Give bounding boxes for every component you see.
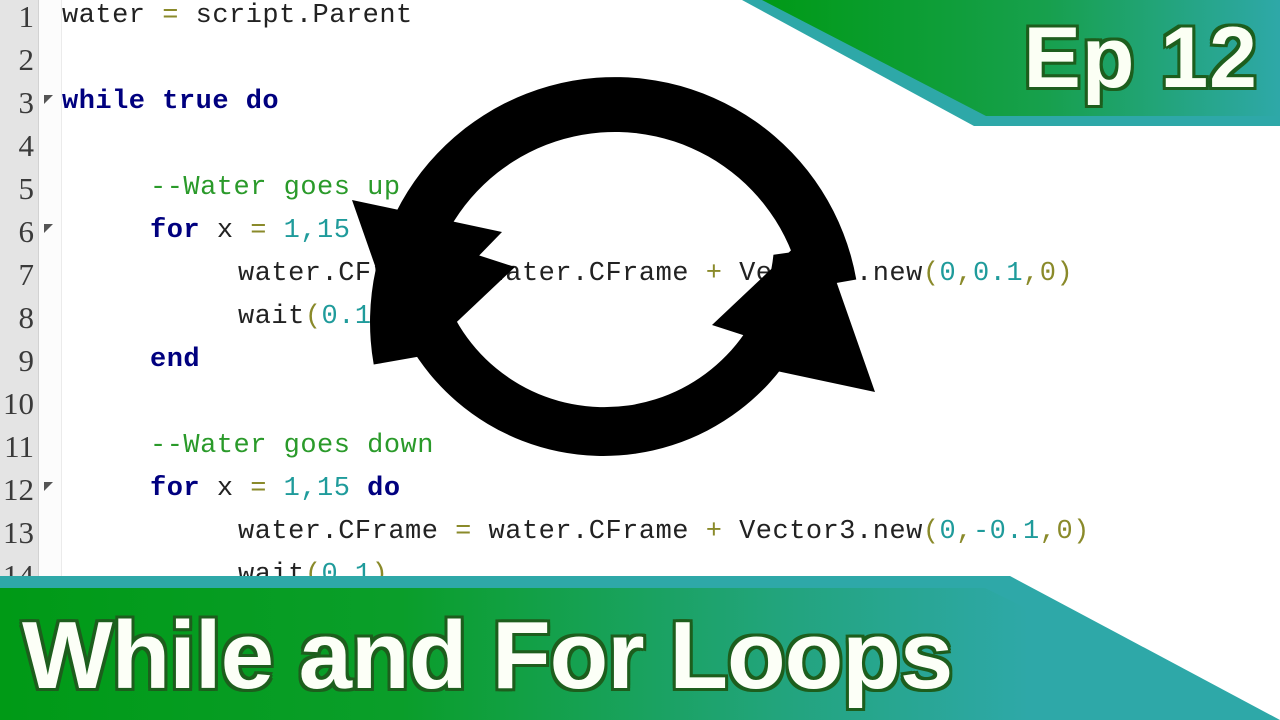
code-line[interactable]: 13water.CFrame = water.CFrame + Vector3.… [0, 511, 1280, 554]
code-line[interactable]: 6for x = 1,15 do [0, 210, 1280, 253]
line-number: 1 [0, 0, 34, 38]
code-fold-marker[interactable] [44, 224, 53, 233]
line-number: 11 [0, 425, 34, 468]
line-number: 6 [0, 210, 34, 253]
video-title: While and For Loops [22, 594, 952, 718]
code-text: water.CFrame = water.CFrame + Vector3.ne… [238, 511, 1090, 554]
code-line[interactable]: 9end [0, 339, 1280, 382]
line-number: 2 [0, 38, 34, 81]
line-number: 5 [0, 167, 34, 210]
code-text: water.CFrame = water.CFrame + Vector3.ne… [238, 253, 1073, 296]
code-text: --Water goes up [150, 167, 401, 210]
line-number: 13 [0, 511, 34, 554]
code-text: while true do [62, 81, 279, 124]
code-text: end [150, 339, 200, 382]
code-line[interactable]: 12for x = 1,15 do [0, 468, 1280, 511]
code-line[interactable]: 8wait(0.1) [0, 296, 1280, 339]
code-line[interactable]: 5--Water goes up [0, 167, 1280, 210]
code-text: for x = 1,15 do [150, 468, 401, 511]
line-number: 7 [0, 253, 34, 296]
episode-label: Ep 12 [1024, 0, 1258, 124]
code-text: for x = 1,15 do [150, 210, 401, 253]
code-line[interactable]: 11--Water goes down [0, 425, 1280, 468]
code-line[interactable]: 7water.CFrame = water.CFrame + Vector3.n… [0, 253, 1280, 296]
line-number: 8 [0, 296, 34, 339]
video-thumbnail: 1water = script.Parent23while true do45-… [0, 0, 1280, 720]
code-fold-marker[interactable] [44, 482, 53, 491]
line-number: 9 [0, 339, 34, 382]
code-text: --Water goes down [150, 425, 434, 468]
line-number: 4 [0, 124, 34, 167]
code-text: wait(0.1) [238, 296, 388, 339]
line-number: 3 [0, 81, 34, 124]
episode-badge: Ep 12 [720, 0, 1280, 132]
code-text: water = script.Parent [62, 0, 413, 38]
code-fold-marker[interactable] [44, 95, 53, 104]
code-line[interactable]: 10 [0, 382, 1280, 425]
title-banner: While and For Loops [0, 576, 1280, 720]
line-number: 12 [0, 468, 34, 511]
line-number: 10 [0, 382, 34, 425]
